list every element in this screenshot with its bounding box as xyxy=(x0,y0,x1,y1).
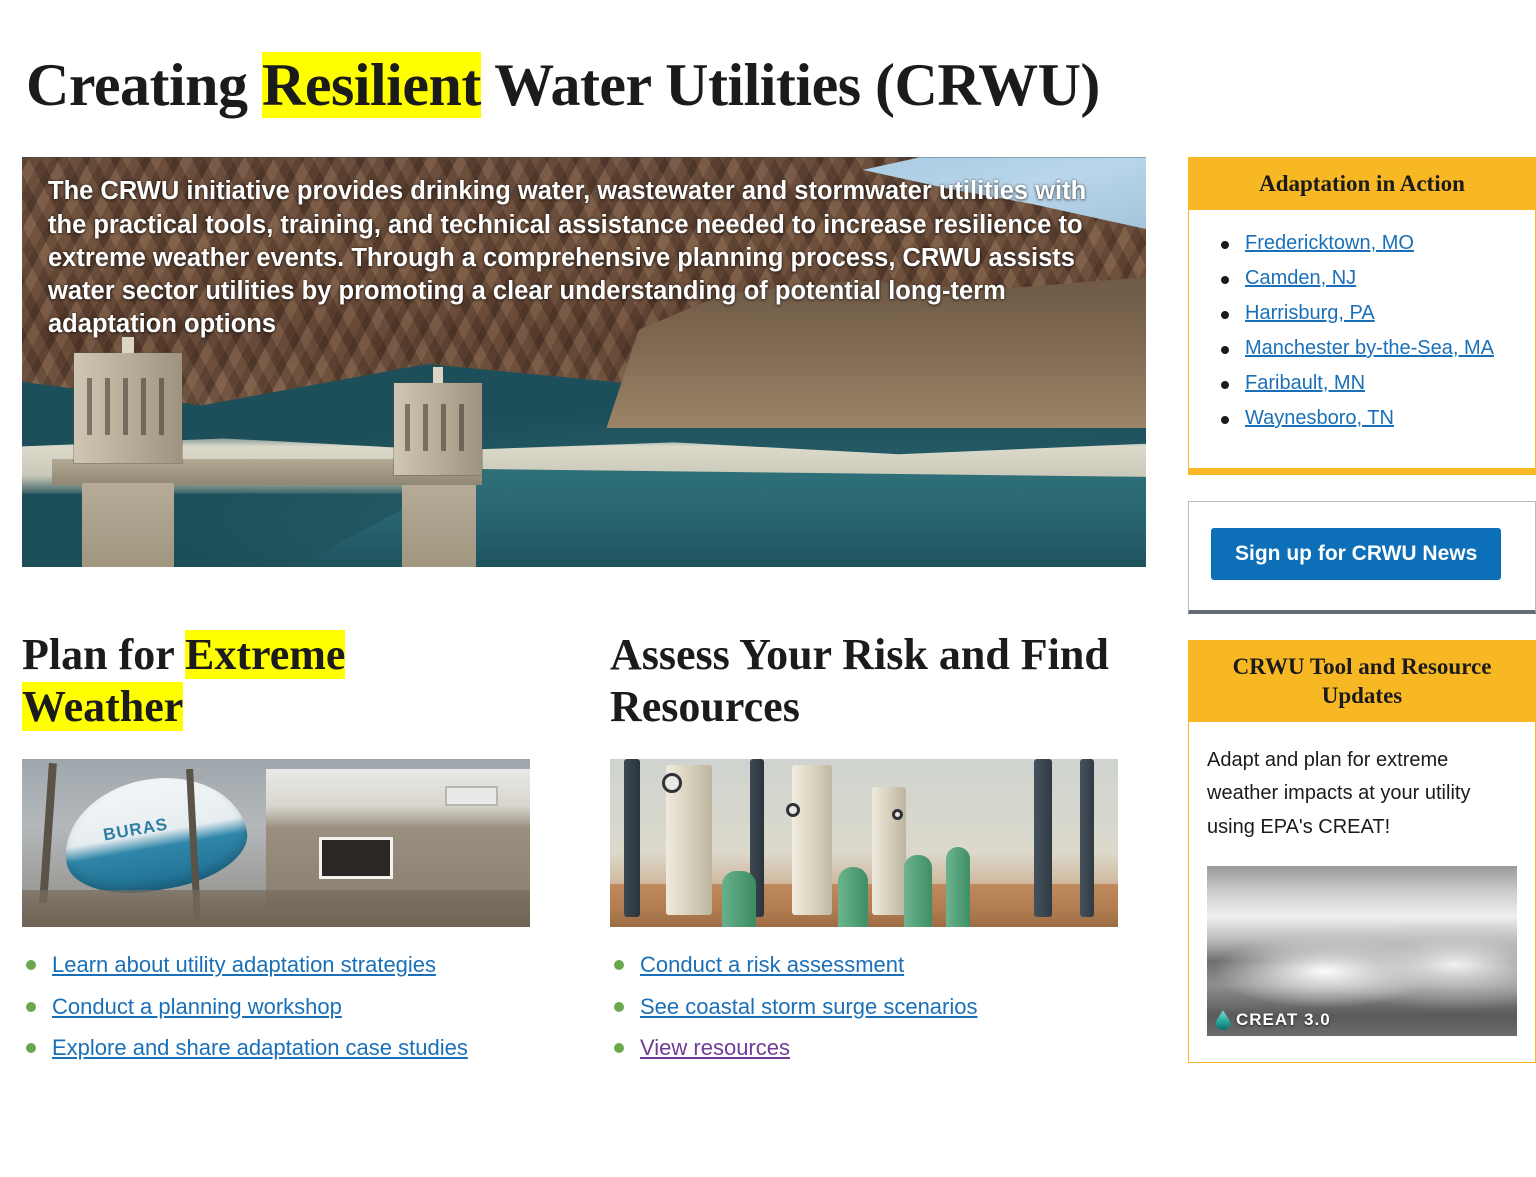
feature-title-1: Plan for Extreme Weather xyxy=(22,629,532,733)
updates-panel-body: Adapt and plan for extreme weather impac… xyxy=(1189,722,1535,1063)
tower-cap xyxy=(433,367,444,383)
list-item: Conduct a planning workshop xyxy=(22,993,532,1021)
tower-window-slits xyxy=(405,404,472,452)
feature-image-storm-damage: BURAS xyxy=(22,759,530,927)
hero-intake-tower-right xyxy=(394,383,482,475)
link-explore-case-studies[interactable]: Explore and share adaptation case studie… xyxy=(52,1035,468,1060)
adaptation-panel-body: Fredericktown, MO Camden, NJ Harrisburg,… xyxy=(1189,210,1535,468)
water-drop-icon xyxy=(1215,1010,1231,1030)
list-item: Camden, NJ xyxy=(1219,267,1517,290)
feature-assess-your-risk: Assess Your Risk and Find Resources xyxy=(610,629,1120,1075)
list-item: Harrisburg, PA xyxy=(1219,302,1517,325)
list-item: Waynesboro, TN xyxy=(1219,407,1517,430)
link-conduct-risk-assessment[interactable]: Conduct a risk assessment xyxy=(640,952,904,977)
hero-overlay-text: The CRWU initiative provides drinking wa… xyxy=(22,157,1146,351)
page-layout: The CRWU initiative provides drinking wa… xyxy=(0,157,1536,1089)
building-window-upper xyxy=(445,786,498,806)
link-coastal-storm-surge-scenarios[interactable]: See coastal storm surge scenarios xyxy=(640,994,978,1019)
link-view-resources[interactable]: View resources xyxy=(640,1035,790,1060)
link-conduct-planning-workshop[interactable]: Conduct a planning workshop xyxy=(52,994,342,1019)
list-item: Conduct a risk assessment xyxy=(610,951,1120,979)
sidebar: Adaptation in Action Fredericktown, MO C… xyxy=(1188,157,1536,1089)
sidebar-link-manchester-by-the-sea-ma[interactable]: Manchester by-the-Sea, MA xyxy=(1245,337,1494,359)
sidebar-link-fredericktown-mo[interactable]: Fredericktown, MO xyxy=(1245,232,1414,254)
green-pipe-3 xyxy=(904,855,932,927)
crwu-tool-resource-updates-panel: CRWU Tool and Resource Updates Adapt and… xyxy=(1188,640,1536,1063)
updates-panel-heading: CRWU Tool and Resource Updates xyxy=(1189,641,1535,722)
damaged-building xyxy=(266,769,530,910)
creat-badge-label: CREAT 3.0 xyxy=(1236,1010,1331,1030)
adaptation-city-list: Fredericktown, MO Camden, NJ Harrisburg,… xyxy=(1207,232,1517,430)
vertical-pipe-dark-4 xyxy=(1080,759,1094,917)
signup-crwu-news-button[interactable]: Sign up for CRWU News xyxy=(1211,528,1501,580)
main-content: The CRWU initiative provides drinking wa… xyxy=(22,157,1174,1075)
list-item: Fredericktown, MO xyxy=(1219,232,1517,255)
vertical-pipe-dark-3 xyxy=(1034,759,1052,917)
adaptation-panel-heading: Adaptation in Action xyxy=(1189,158,1535,210)
hero-tower-legs-left xyxy=(82,483,174,567)
feature-columns: Plan for Extreme Weather BURAS xyxy=(22,629,1174,1075)
hero-banner: The CRWU initiative provides drinking wa… xyxy=(22,157,1146,567)
vertical-pipe-tan-3 xyxy=(872,787,906,915)
green-pipe-4 xyxy=(946,847,970,927)
vertical-pipe-tan-2 xyxy=(792,765,832,915)
creat-badge: CREAT 3.0 xyxy=(1215,1010,1331,1030)
sidebar-link-faribault-mn[interactable]: Faribault, MN xyxy=(1245,372,1365,394)
feature-title-2: Assess Your Risk and Find Resources xyxy=(610,629,1120,733)
list-item: Learn about utility adaptation strategie… xyxy=(22,951,532,979)
list-item: Explore and share adaptation case studie… xyxy=(22,1034,532,1062)
hero-intake-tower-left xyxy=(74,353,182,463)
vertical-pipe-dark-1 xyxy=(624,759,640,917)
feature-1-link-list: Learn about utility adaptation strategie… xyxy=(22,951,532,1062)
sidebar-link-harrisburg-pa[interactable]: Harrisburg, PA xyxy=(1245,302,1375,324)
page-title-part-1: Creating xyxy=(26,52,262,118)
hero-tower-legs-right xyxy=(402,485,476,567)
creat-promo-image[interactable]: CREAT 3.0 xyxy=(1207,866,1517,1036)
list-item: See coastal storm surge scenarios xyxy=(610,993,1120,1021)
feature-title-1-part-1: Plan for xyxy=(22,630,185,679)
feature-plan-for-extreme-weather: Plan for Extreme Weather BURAS xyxy=(22,629,532,1075)
sidebar-link-waynesboro-tn[interactable]: Waynesboro, TN xyxy=(1245,407,1394,429)
feature-title-1-highlight-2: Weather xyxy=(22,682,183,731)
debris-rubble xyxy=(22,890,530,927)
list-item: Faribault, MN xyxy=(1219,372,1517,395)
link-learn-adaptation-strategies[interactable]: Learn about utility adaptation strategie… xyxy=(52,952,436,977)
green-pipe-2 xyxy=(838,867,868,927)
updates-panel-text: Adapt and plan for extreme weather impac… xyxy=(1207,744,1517,845)
list-item: Manchester by-the-Sea, MA xyxy=(1219,337,1517,360)
adaptation-in-action-panel: Adaptation in Action Fredericktown, MO C… xyxy=(1188,157,1536,475)
feature-2-link-list: Conduct a risk assessment See coastal st… xyxy=(610,951,1120,1062)
list-item: View resources xyxy=(610,1034,1120,1062)
building-window-large xyxy=(319,837,393,879)
sidebar-link-camden-nj[interactable]: Camden, NJ xyxy=(1245,267,1356,289)
tower-window-slits xyxy=(87,378,169,435)
page-title-highlight: Resilient xyxy=(262,52,481,118)
feature-image-treatment-plant xyxy=(610,759,1118,927)
feature-title-1-highlight-1: Extreme xyxy=(185,630,345,679)
green-pipe-1 xyxy=(722,871,756,927)
page-title-part-3: Water Utilities (CRWU) xyxy=(481,52,1100,118)
signup-panel: Sign up for CRWU News xyxy=(1188,501,1536,614)
page-title: Creating Resilient Water Utilities (CRWU… xyxy=(0,40,1536,117)
